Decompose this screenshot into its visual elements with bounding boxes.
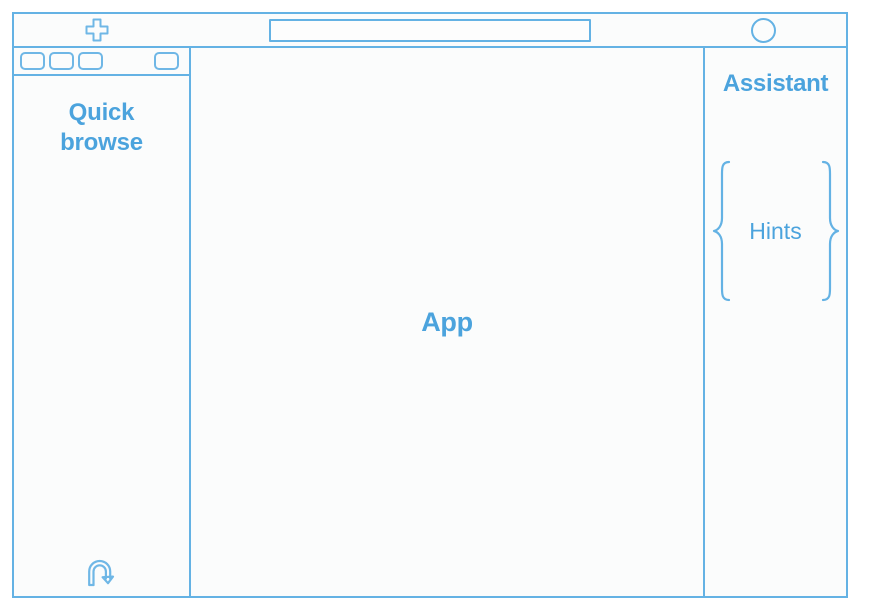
brace-left-icon: [712, 160, 732, 302]
add-button[interactable]: [84, 17, 110, 43]
titlebar: [12, 12, 848, 48]
sidebar-content: Quick browse: [14, 76, 189, 596]
assistant-panel: Assistant Hints: [705, 48, 848, 598]
sidebar-toolbar: [14, 48, 189, 76]
sidebar-title-line-1: Quick: [37, 98, 167, 128]
assistant-title: Assistant: [723, 70, 828, 98]
app-content-area[interactable]: App: [191, 48, 705, 598]
sidebar-footer: [14, 558, 189, 588]
sidebar-panel: Quick browse: [12, 48, 191, 598]
wireframe-canvas: Quick browse: [0, 0, 879, 616]
avatar[interactable]: [751, 18, 776, 43]
titlebar-left-region: [14, 14, 180, 46]
sidebar-title: Quick browse: [37, 98, 167, 158]
sidebar-tool-button-3[interactable]: [78, 52, 103, 70]
plus-icon: [84, 17, 110, 43]
u-turn-arrow-icon: [86, 558, 118, 588]
sidebar-tool-button-1[interactable]: [20, 52, 45, 70]
titlebar-right-region: [680, 14, 846, 46]
window-body: Quick browse: [12, 48, 848, 598]
app-window: Quick browse: [12, 12, 848, 598]
u-turn-button[interactable]: [86, 558, 118, 588]
hints-label: Hints: [749, 218, 801, 245]
sidebar-tool-button-2[interactable]: [49, 52, 74, 70]
brace-right-icon: [820, 160, 840, 302]
app-label: App: [421, 307, 473, 338]
titlebar-center-region: [180, 14, 680, 46]
sidebar-tool-button-4[interactable]: [154, 52, 179, 70]
sidebar-title-line-2: browse: [37, 128, 167, 158]
hints-block: Hints: [712, 160, 840, 302]
address-input[interactable]: [269, 19, 591, 42]
